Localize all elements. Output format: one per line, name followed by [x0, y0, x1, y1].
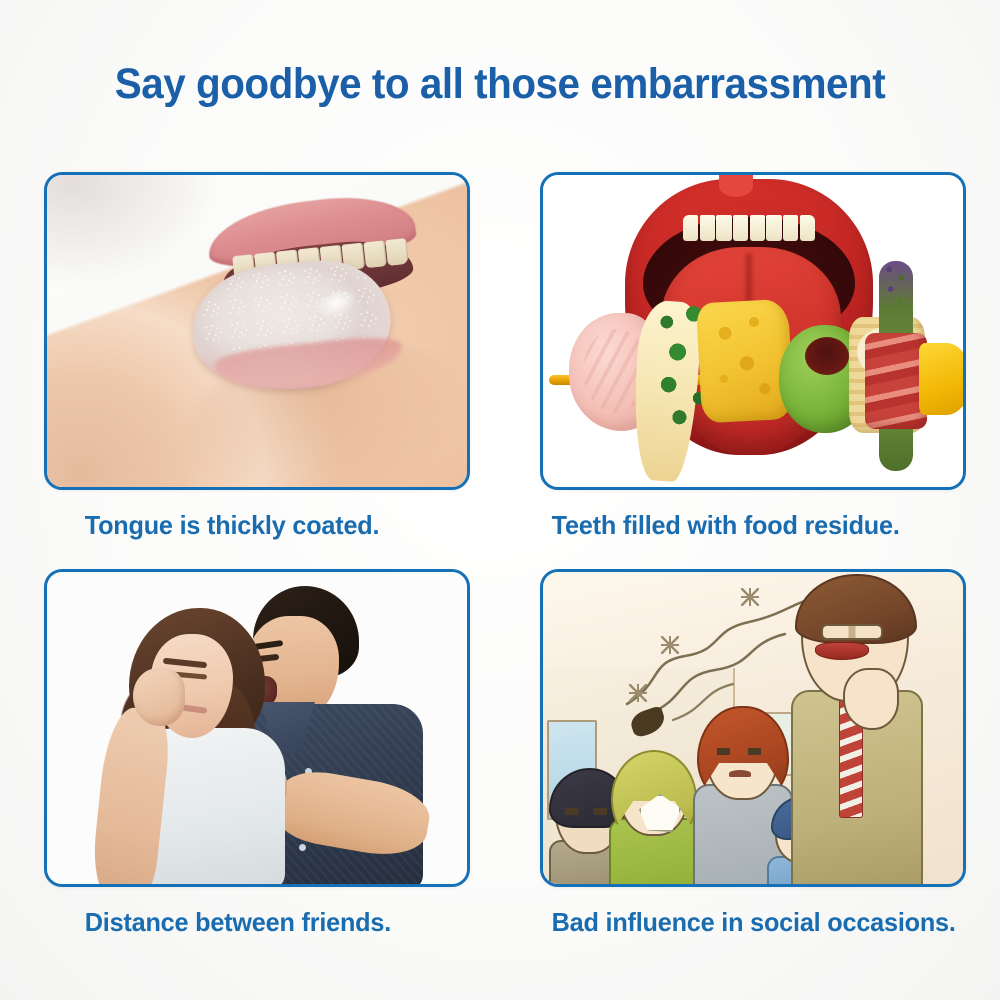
card-frame — [540, 569, 966, 887]
shirt-button — [299, 844, 306, 851]
odor-sparkle-icon — [661, 636, 679, 654]
benefit-card-grid: Tongue is thickly coated. — [44, 172, 966, 938]
bad-breath-man-hand — [843, 668, 899, 730]
card-frame — [540, 172, 966, 490]
bad-breath-man-eyes — [821, 624, 883, 640]
red-hair-woman-eyes — [717, 748, 761, 755]
card-friend-distance: Distance between friends. — [44, 569, 470, 938]
red-hair-woman-mouth — [729, 770, 751, 777]
upper-lip-notch — [719, 175, 753, 197]
card-social-occasions: Bad influence in social occasions. — [540, 569, 966, 938]
photo-coated-tongue — [47, 175, 467, 487]
card-caption: Distance between friends. — [44, 907, 457, 938]
card-caption: Tongue is thickly coated. — [44, 510, 457, 541]
bacon-wrap — [865, 333, 927, 429]
card-caption: Teeth filled with food residue. — [540, 510, 953, 541]
woman-hand-pinching-nose — [133, 668, 185, 726]
illustration-mouth-food-skewer — [543, 175, 963, 487]
odor-sparkle-icon — [629, 684, 647, 702]
card-frame — [44, 172, 470, 490]
bystander-left-eyes — [565, 808, 607, 815]
card-caption: Bad influence in social occasions. — [540, 907, 953, 938]
product-info-graphic: Say goodbye to all those embarrassment — [0, 0, 1000, 1000]
photo-woman-pinching-nose — [47, 572, 467, 884]
odor-sparkle-icon — [741, 588, 759, 606]
page-title: Say goodbye to all those embarrassment — [30, 60, 970, 109]
swiss-cheese — [696, 299, 794, 424]
card-tongue-coated: Tongue is thickly coated. — [44, 172, 470, 541]
upper-teeth — [683, 215, 815, 241]
yellow-pepper — [919, 343, 963, 415]
card-food-residue: Teeth filled with food residue. — [540, 172, 966, 541]
cartoon-office-crowd-reacting — [543, 572, 963, 884]
bad-breath-man-mouth — [815, 642, 869, 660]
card-frame — [44, 569, 470, 887]
